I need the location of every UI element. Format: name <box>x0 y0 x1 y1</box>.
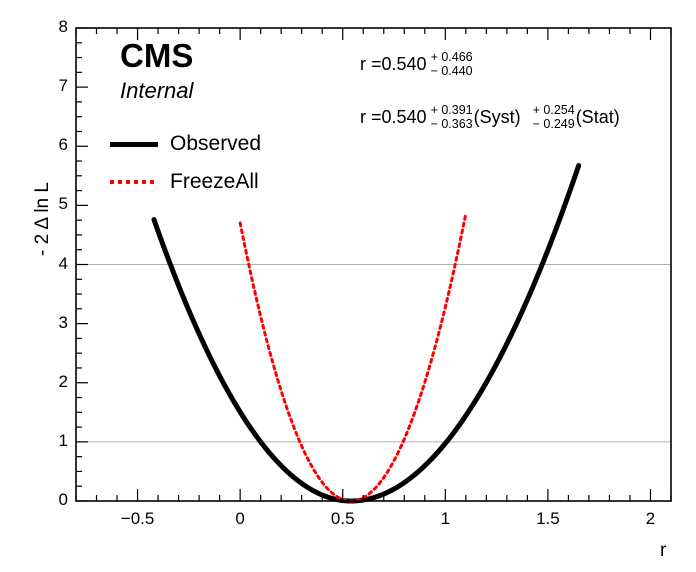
plot-area <box>0 0 696 572</box>
y-tick-label: 6 <box>38 135 68 155</box>
fit-result-stat-err-up: + 0.254 <box>533 103 575 117</box>
fit-result-syst-err-up: + 0.391 <box>431 103 473 117</box>
fit-result-total-value: 0.540 <box>382 54 427 75</box>
legend-item-freezeall: FreezeAll <box>110 170 259 194</box>
x-tick-label: 0 <box>210 509 270 529</box>
cms-label: CMS <box>120 38 193 74</box>
fit-result-syst-err-down: − 0.363 <box>431 117 473 131</box>
solid-line-swatch-icon <box>110 138 158 150</box>
x-tick-label: 1.5 <box>518 509 578 529</box>
curve-observed <box>154 166 579 501</box>
likelihood-scan-figure: - 2 Δ ln L r −0.500.511.52 012345678 CMS… <box>0 0 696 572</box>
y-tick-label: 2 <box>38 372 68 392</box>
x-axis-title: r <box>660 540 666 562</box>
fit-result-stat-err-down: − 0.249 <box>533 117 575 131</box>
y-axis-title: - 2 Δ ln L <box>32 182 54 256</box>
x-tick-label: −0.5 <box>108 509 168 529</box>
y-tick-label: 0 <box>38 490 68 510</box>
fit-result-split-prefix: r = <box>360 107 382 128</box>
legend-label-freezeall: FreezeAll <box>170 170 259 194</box>
fit-result-total-err-up: + 0.466 <box>431 50 473 64</box>
x-tick-label: 2 <box>620 509 680 529</box>
fit-result-syst-tag: (Syst) <box>474 107 521 128</box>
x-tick-label: 0.5 <box>313 509 373 529</box>
cms-sublabel: Internal <box>120 76 193 106</box>
y-tick-label: 5 <box>38 194 68 214</box>
y-tick-label: 7 <box>38 76 68 96</box>
fit-result-stat-errors: + 0.254 − 0.249 <box>533 103 575 131</box>
fit-result-total-prefix: r = <box>360 54 382 75</box>
fit-result-syst-errors: + 0.391 − 0.363 <box>431 103 473 131</box>
y-axis-title-wrap: - 2 Δ ln L <box>8 28 38 258</box>
legend-label-observed: Observed <box>170 132 261 156</box>
fit-result-stat-tag: (Stat) <box>576 107 620 128</box>
fit-result-total-errors: + 0.466 − 0.440 <box>431 50 473 78</box>
x-tick-label: 1 <box>415 509 475 529</box>
legend-item-observed: Observed <box>110 132 261 156</box>
curve-group <box>154 166 579 501</box>
fit-result-split: r = 0.540 + 0.391 − 0.363 (Syst) + 0.254… <box>360 103 620 131</box>
y-tick-label: 4 <box>38 254 68 274</box>
y-tick-label: 1 <box>38 431 68 451</box>
fit-result-total: r = 0.540 + 0.466 − 0.440 <box>360 50 473 78</box>
y-tick-label: 3 <box>38 313 68 333</box>
gridlines <box>76 265 671 442</box>
dotted-line-swatch-icon <box>110 176 158 188</box>
fit-result-split-value: 0.540 <box>382 107 427 128</box>
fit-result-total-err-down: − 0.440 <box>431 64 473 78</box>
y-tick-label: 8 <box>38 17 68 37</box>
cms-label-block: CMS Internal <box>120 38 193 106</box>
